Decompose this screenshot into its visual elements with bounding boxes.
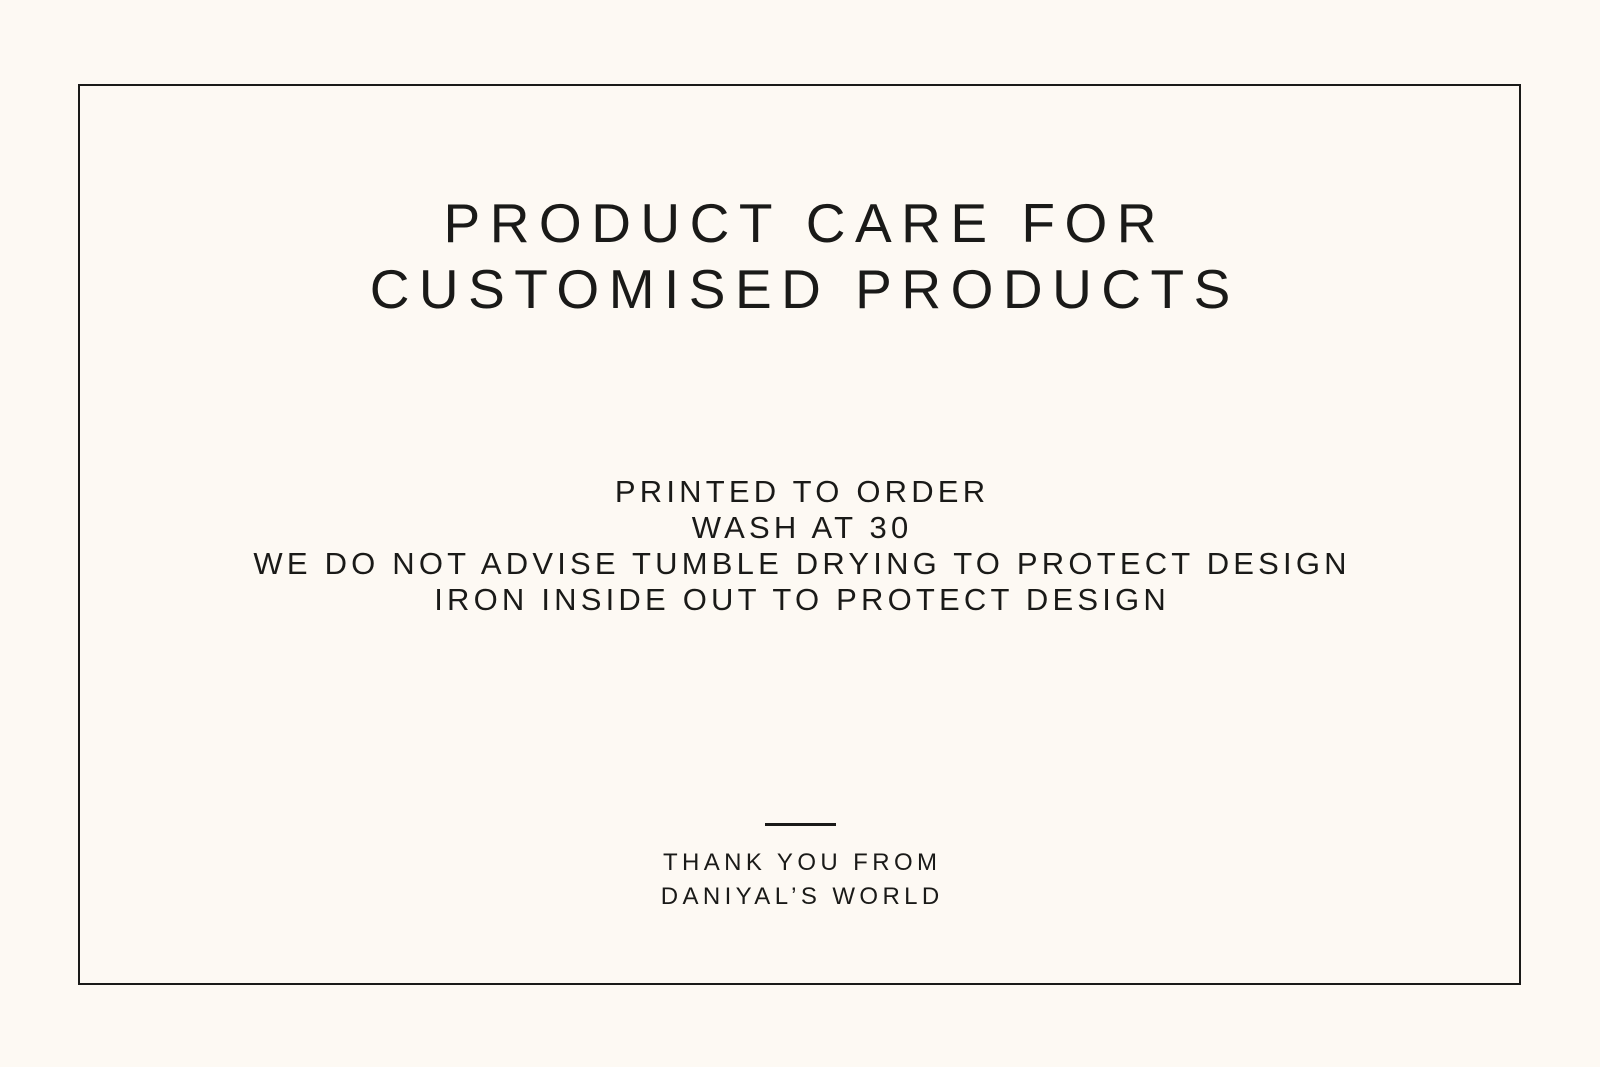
page-title: PRODUCT CARE FOR CUSTOMISED PRODUCTS	[0, 190, 1600, 322]
divider-rule	[765, 823, 836, 826]
product-care-card: PRODUCT CARE FOR CUSTOMISED PRODUCTS PRI…	[0, 0, 1600, 1067]
card-content: PRODUCT CARE FOR CUSTOMISED PRODUCTS PRI…	[0, 0, 1600, 1067]
title-line-1: PRODUCT CARE FOR	[0, 190, 1600, 256]
care-instruction-line: IRON INSIDE OUT TO PROTECT DESIGN	[0, 582, 1600, 618]
footer-signature: THANK YOU FROM DANIYAL’S WORLD	[0, 846, 1600, 914]
title-line-2: CUSTOMISED PRODUCTS	[0, 256, 1600, 322]
footer-brand-name: DANIYAL’S WORLD	[0, 880, 1600, 914]
care-instructions-list: PRINTED TO ORDER WASH AT 30 WE DO NOT AD…	[0, 474, 1600, 618]
divider	[0, 823, 1600, 826]
care-instruction-line: WE DO NOT ADVISE TUMBLE DRYING TO PROTEC…	[0, 546, 1600, 582]
footer-thanks-line: THANK YOU FROM	[0, 846, 1600, 880]
care-instruction-line: WASH AT 30	[0, 510, 1600, 546]
care-instruction-line: PRINTED TO ORDER	[0, 474, 1600, 510]
